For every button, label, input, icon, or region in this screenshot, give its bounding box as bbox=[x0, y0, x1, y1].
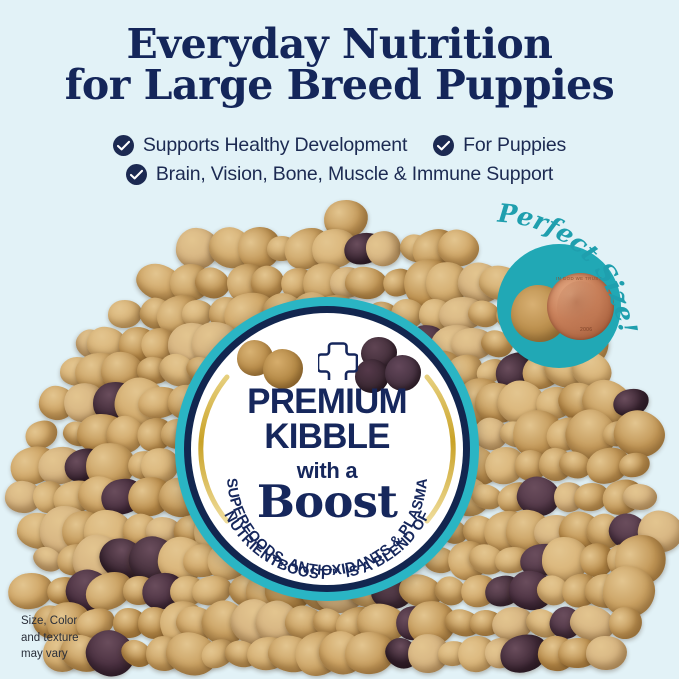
kibble-piece-icon bbox=[107, 299, 143, 329]
bullet-row: Supports Healthy Development For Puppies bbox=[113, 134, 566, 157]
bullet-row: Brain, Vision, Bone, Muscle & Immune Sup… bbox=[126, 163, 553, 186]
list-item: Brain, Vision, Bone, Muscle & Immune Sup… bbox=[126, 163, 553, 186]
feature-bullet-list: Supports Healthy Development For Puppies… bbox=[0, 134, 679, 186]
check-circle-icon bbox=[113, 135, 134, 156]
list-item: For Puppies bbox=[433, 134, 566, 157]
disclaimer-line-3: may vary bbox=[21, 646, 79, 663]
disclaimer-line-2: and texture bbox=[21, 630, 79, 647]
svg-text:Perfect Size!: Perfect Size! bbox=[495, 199, 642, 336]
arc-text-bottom: SUPERFOODS, ANTIOXIDANTS & PLASMA bbox=[223, 477, 431, 579]
check-circle-icon bbox=[433, 135, 454, 156]
disclaimer-line-1: Size, Color bbox=[21, 613, 79, 630]
kibble-piece-icon bbox=[586, 636, 627, 670]
perfect-size-text: Perfect Size! bbox=[495, 199, 642, 336]
bullet-label: Brain, Vision, Bone, Muscle & Immune Sup… bbox=[156, 163, 553, 186]
premium-kibble-badge: PREMIUM KIBBLE with a Boost NUTRIENTBOOS… bbox=[175, 297, 479, 601]
svg-text:SUPERFOODS, ANTIOXIDANTS & PLA: SUPERFOODS, ANTIOXIDANTS & PLASMA bbox=[223, 477, 431, 579]
bullet-label: For Puppies bbox=[463, 134, 566, 157]
list-item: Supports Healthy Development bbox=[113, 134, 407, 157]
perfect-size-label: Perfect Size! bbox=[468, 196, 679, 386]
bullet-label: Supports Healthy Development bbox=[143, 134, 407, 157]
headline-line-2: for Large Breed Puppies bbox=[0, 65, 679, 106]
check-circle-icon bbox=[126, 164, 147, 185]
product-feature-image: Everyday Nutrition for Large Breed Puppi… bbox=[0, 0, 679, 679]
badge-arc-text: NUTRIENTBOOST™ IS A BLEND OF SUPERFOODS,… bbox=[175, 297, 479, 601]
headline-line-1: Everyday Nutrition bbox=[0, 24, 679, 65]
page-title: Everyday Nutrition for Large Breed Puppi… bbox=[0, 24, 679, 105]
disclaimer-text: Size, Color and texture may vary bbox=[21, 613, 79, 663]
